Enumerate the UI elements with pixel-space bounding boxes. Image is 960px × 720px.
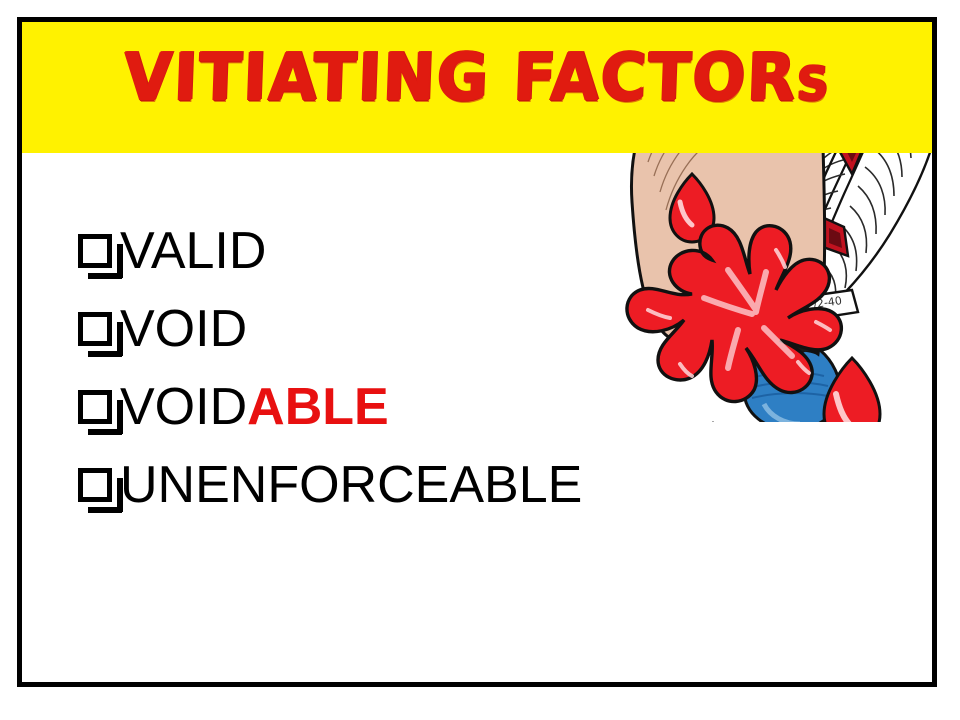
bullet-list: VALID VOID VOIDABLE UNENFORCEABLE <box>78 212 582 524</box>
list-item-label: VOID <box>120 301 247 357</box>
white-square-bullet-icon <box>78 234 112 268</box>
list-item[interactable]: VOIDABLE <box>78 368 582 446</box>
list-item-label: VALID <box>120 223 266 279</box>
white-square-bullet-icon <box>78 468 112 502</box>
list-item-label: UNENFORCEABLE <box>120 457 582 513</box>
list-item-accent: ABLE <box>247 378 389 436</box>
white-square-bullet-icon <box>78 390 112 424</box>
page-title-tail: S <box>795 57 831 111</box>
list-item[interactable]: VOID <box>78 290 582 368</box>
page-title-main: VITIATING FACTOR <box>123 38 798 115</box>
list-item[interactable]: VALID <box>78 212 582 290</box>
list-item-label: VOIDABLE <box>120 379 389 435</box>
list-item[interactable]: UNENFORCEABLE <box>78 446 582 524</box>
slide-canvas: VITIATING FACTORS <box>17 17 937 687</box>
white-square-bullet-icon <box>78 312 112 346</box>
page-title: VITIATING FACTORS <box>21 40 934 122</box>
title-band: VITIATING FACTORS <box>22 22 932 153</box>
